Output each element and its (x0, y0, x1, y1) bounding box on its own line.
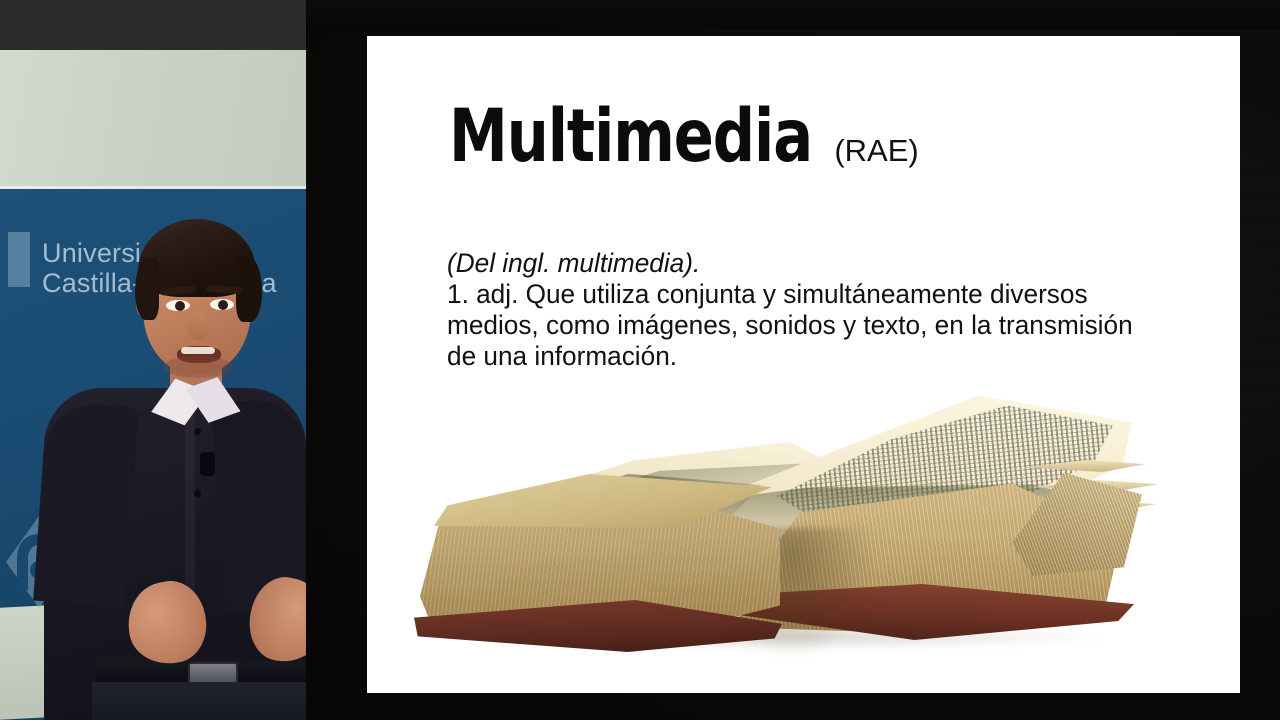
presenter-pupil-left (175, 301, 185, 311)
presenter-nose (188, 312, 208, 340)
presenter-teeth (181, 347, 215, 354)
presenter-figure (0, 0, 306, 720)
presenter-pupil-right (218, 300, 228, 310)
video-frame: Universidad de Castilla-La Mancha (0, 0, 1280, 720)
presenter-hair-side-left (135, 258, 159, 320)
presenter-shirt-placket (185, 406, 195, 606)
presenter-trousers (92, 682, 306, 720)
definition-block: (Del ingl. multimedia). 1. adj. Que util… (447, 248, 1155, 372)
definition-line-3: de una información. (447, 341, 1155, 372)
open-old-book-image (412, 388, 1202, 688)
presenter-shoulder-left (33, 401, 139, 607)
presenter-video: Universidad de Castilla-La Mancha (0, 0, 306, 720)
presentation-slide: Multimedia (RAE) (Del ingl. multimedia).… (367, 36, 1240, 693)
etymology-line: (Del ingl. multimedia). (447, 248, 1155, 279)
slide-title-source: (RAE) (834, 135, 918, 167)
slide-heading: Multimedia (RAE) (449, 100, 963, 174)
lapel-microphone-icon (200, 452, 215, 476)
presenter-shirt-button-lower (194, 490, 201, 497)
presenter-shirt-button-upper (194, 428, 201, 435)
page-title: Multimedia (449, 100, 812, 174)
definition-line-2: medios, como imágenes, sonidos y texto, … (447, 310, 1155, 341)
definition-line-1: 1. adj. Que utiliza conjunta y simultáne… (447, 279, 1155, 310)
presenter-chin-shadow (163, 356, 233, 378)
